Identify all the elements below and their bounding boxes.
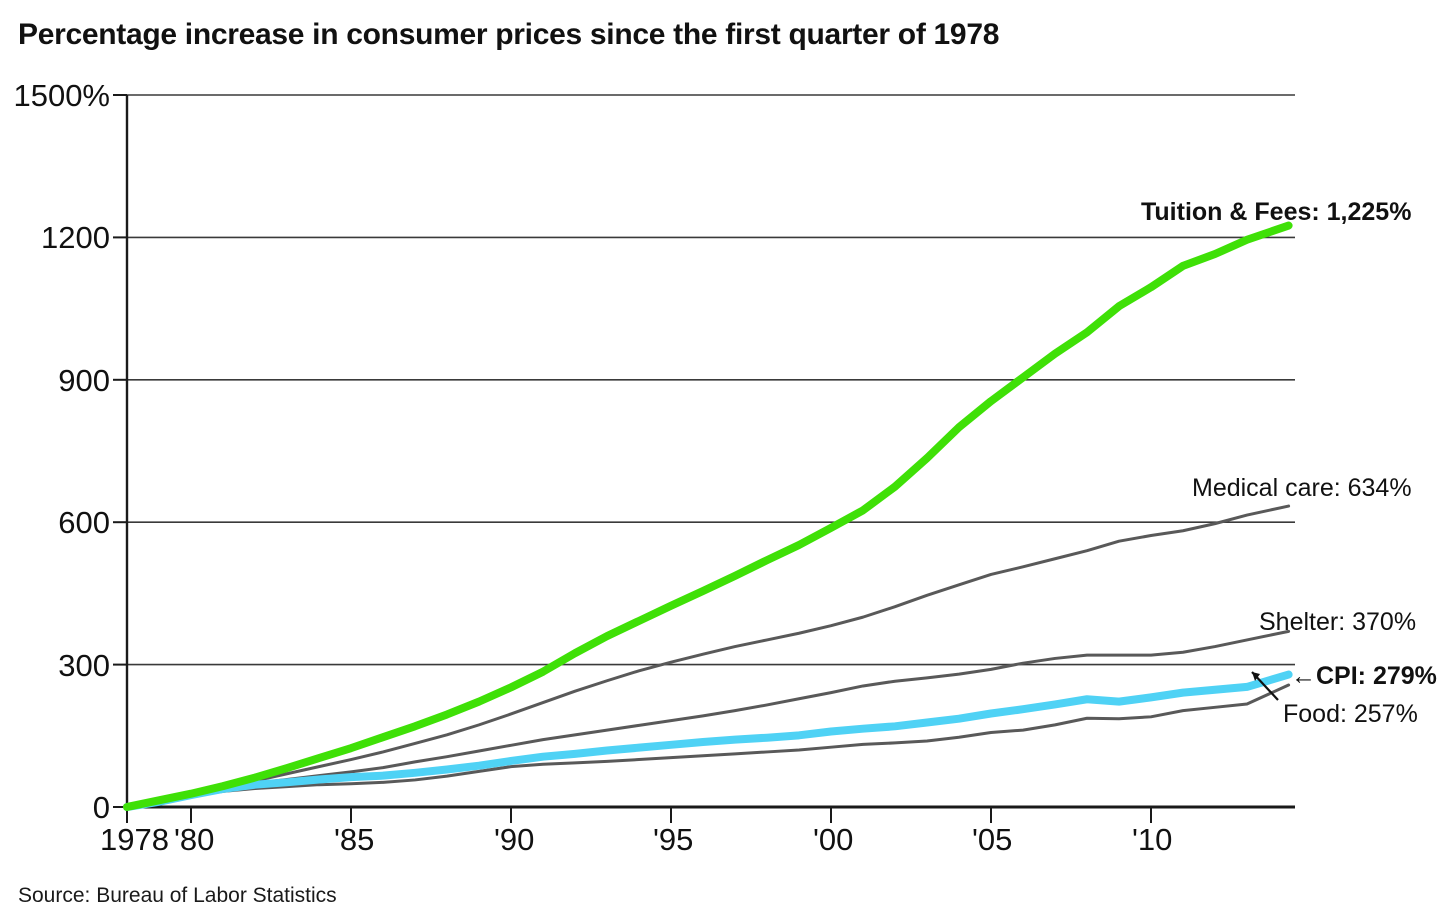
chart-page: Percentage increase in consumer prices s… [0,0,1447,924]
y-tick-1500: 1500% [0,78,110,114]
x-tick-1978: 1978 [100,822,169,858]
x-tick-05: '05 [972,822,1012,858]
cpi-arrow-icon: ← [1291,662,1316,690]
x-tick-00: '00 [813,822,853,858]
y-tick-0: 0 [0,790,110,826]
x-tick-80: '80 [174,822,214,858]
x-tick-95: '95 [653,822,693,858]
series-label-tuition: Tuition & Fees: 1,225% [1141,198,1411,227]
x-tick-10: '10 [1132,822,1172,858]
series-label-shelter: Shelter: 370% [1259,608,1416,637]
line-chart-canvas [0,0,1447,924]
series-label-medical: Medical care: 634% [1192,474,1412,503]
y-tick-600: 600 [0,505,110,541]
source-note: Source: Bureau of Labor Statistics [18,884,337,908]
cpi-label-text: CPI: 279% [1316,662,1437,690]
y-tick-300: 300 [0,648,110,684]
series-label-cpi: ←CPI: 279% [1291,662,1437,691]
x-tick-90: '90 [494,822,534,858]
y-tick-1200: 1200 [0,220,110,256]
x-tick-85: '85 [334,822,374,858]
series-label-food: Food: 257% [1283,700,1418,729]
y-tick-900: 900 [0,363,110,399]
